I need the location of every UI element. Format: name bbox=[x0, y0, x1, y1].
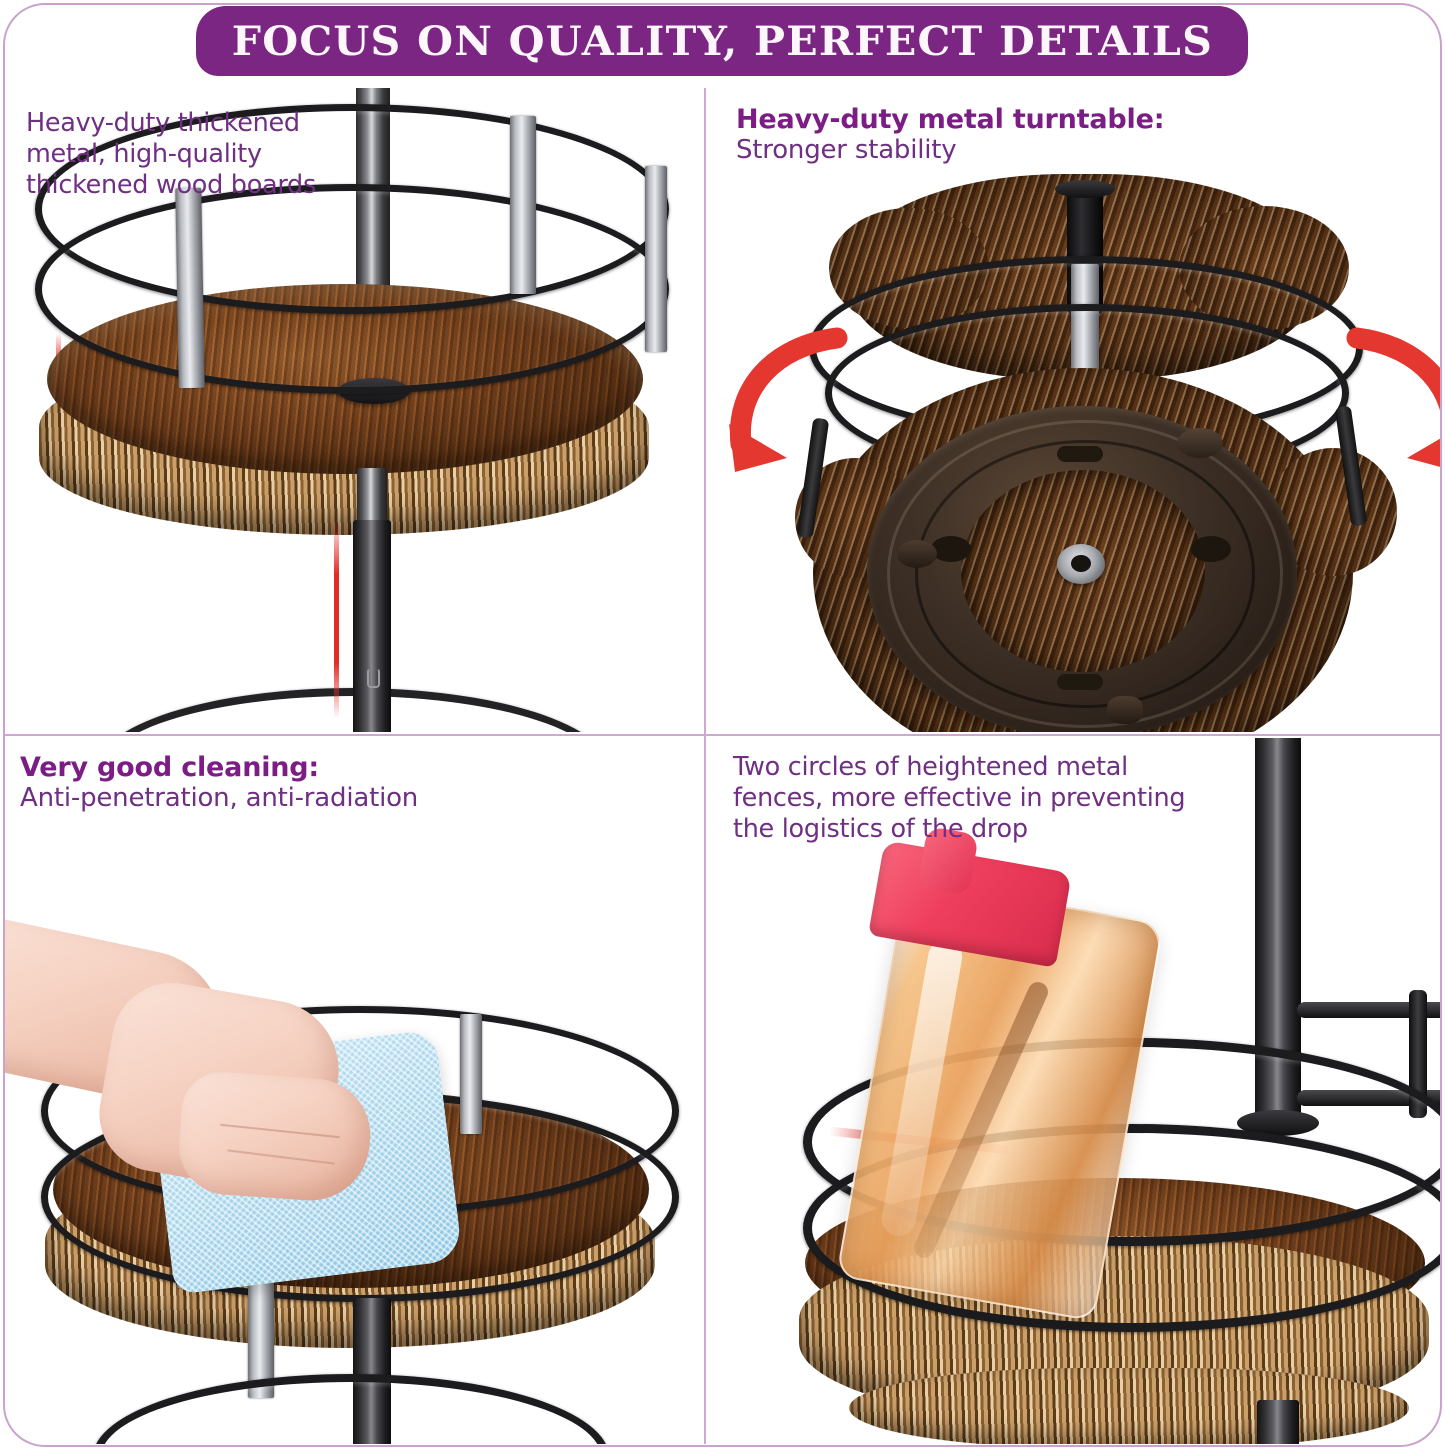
fence-bracket-right bbox=[510, 116, 536, 294]
fence-bracket-left bbox=[175, 188, 204, 388]
vertical-divider bbox=[704, 88, 706, 1444]
fence-bottom-shelf-hint bbox=[849, 1368, 1409, 1444]
turntable-pole-cap bbox=[1055, 180, 1115, 198]
caption-turntable-body: Stronger stability bbox=[736, 135, 1296, 166]
clean-lower-fence-ring bbox=[93, 1374, 609, 1444]
caption-fences-body: Two circles of heightened metal fences, … bbox=[733, 752, 1273, 845]
caption-turntable: Heavy-duty metal turntable: Stronger sta… bbox=[736, 104, 1296, 167]
hand-fingers bbox=[176, 1070, 374, 1205]
measure-line-center bbox=[334, 518, 339, 718]
center-pole-lower bbox=[353, 520, 391, 732]
clean-fence-bracket-far bbox=[460, 1014, 482, 1134]
horizontal-divider bbox=[3, 734, 1442, 736]
caption-material-body: Heavy-duty thickened metal, high-quality… bbox=[26, 108, 426, 201]
rotation-arrow-left-icon bbox=[727, 326, 857, 476]
caption-cleaning: Very good cleaning: Anti-penetration, an… bbox=[20, 752, 520, 815]
rotation-arrow-right-icon bbox=[1337, 326, 1441, 476]
turntable-hub-bore bbox=[1071, 555, 1091, 572]
turntable-slot-top bbox=[1057, 446, 1103, 462]
turntable-slot-left bbox=[931, 536, 971, 562]
title-banner: FOCUS ON QUALITY, PERFECT DETAILS bbox=[196, 6, 1248, 76]
fence-ring-lower bbox=[35, 184, 669, 394]
pole-adjust-slot bbox=[367, 668, 380, 688]
turntable-slot-bottom bbox=[1057, 674, 1103, 690]
caption-cleaning-heading: Very good cleaning: bbox=[20, 752, 520, 783]
turntable-foot-lower-left bbox=[897, 540, 937, 568]
fence-bracket-far-right bbox=[645, 166, 667, 352]
panel-cleaning-image bbox=[5, 738, 703, 1444]
caption-material: Heavy-duty thickened metal, high-quality… bbox=[26, 108, 426, 201]
turntable-slot-right bbox=[1191, 536, 1231, 562]
turntable-foot-bottom bbox=[1107, 696, 1143, 724]
caption-turntable-heading: Heavy-duty metal turntable: bbox=[736, 104, 1296, 135]
turntable-foot-upper-right bbox=[1177, 428, 1223, 458]
caption-cleaning-body: Anti-penetration, anti-radiation bbox=[20, 783, 520, 814]
caption-fences: Two circles of heightened metal fences, … bbox=[733, 752, 1273, 845]
fence-center-pole-lower bbox=[1257, 1400, 1299, 1444]
infographic-root: FOCUS ON QUALITY, PERFECT DETAILS Heavy-… bbox=[0, 0, 1445, 1450]
panel-turntable-image bbox=[709, 88, 1441, 732]
banner-title: FOCUS ON QUALITY, PERFECT DETAILS bbox=[231, 18, 1212, 65]
